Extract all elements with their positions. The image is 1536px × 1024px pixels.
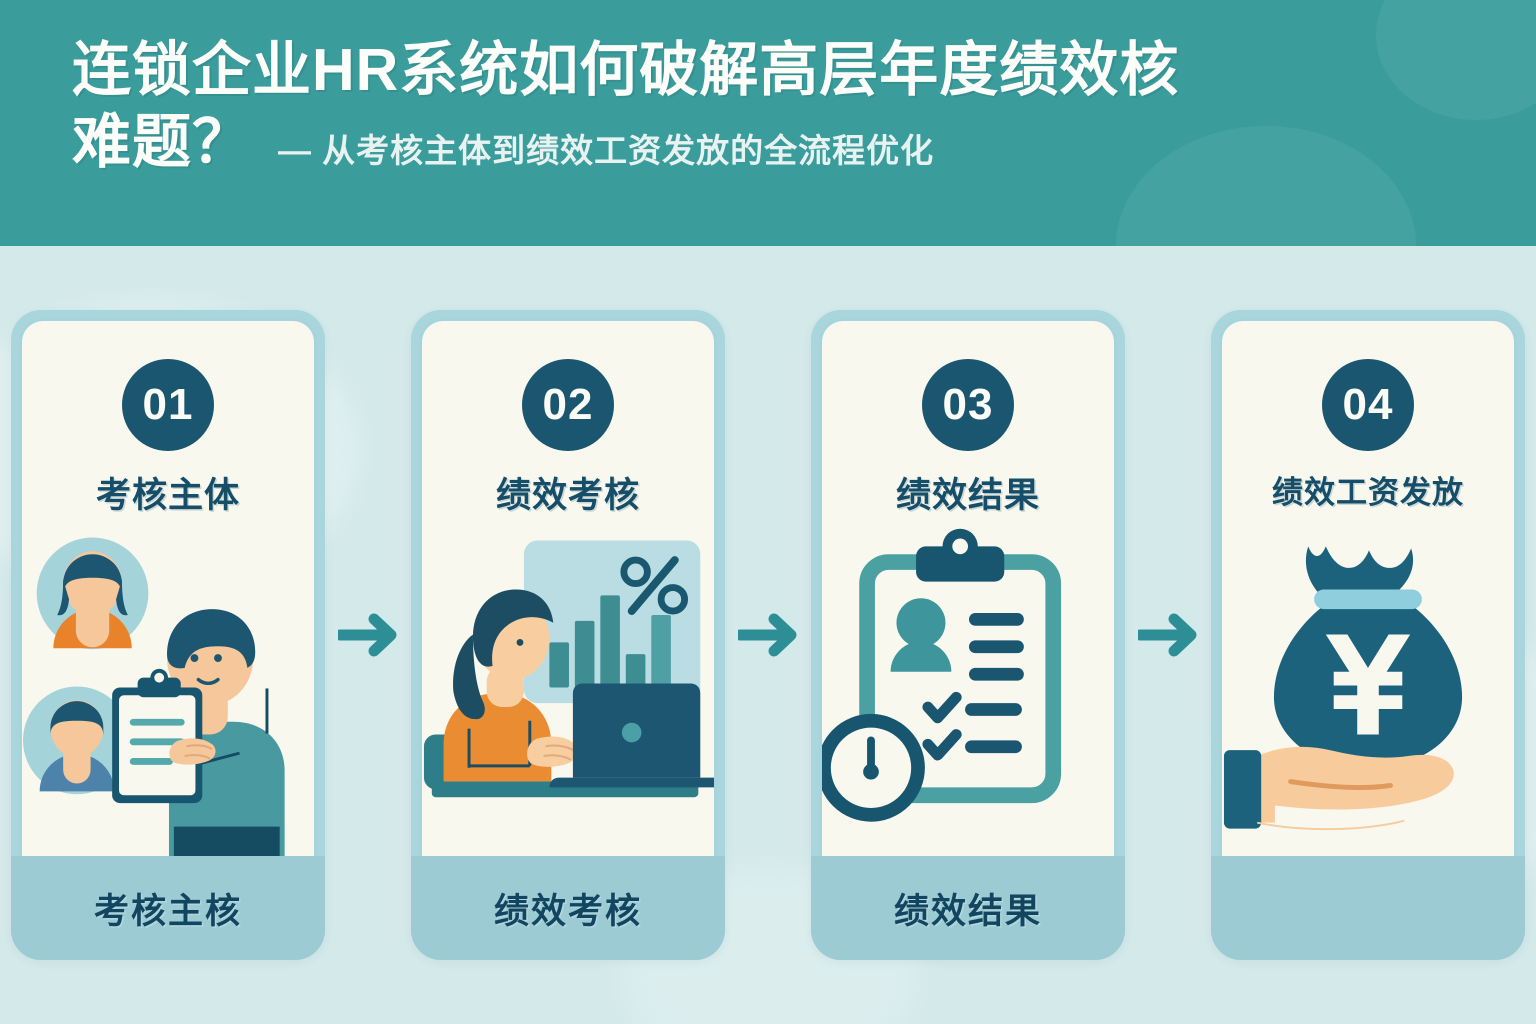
card-footer-label: 绩效结果 — [811, 856, 1125, 960]
step-number-badge: 01 — [122, 359, 214, 451]
card-footer-label — [1211, 856, 1525, 960]
step-footer-text: 绩效考核 — [494, 883, 642, 934]
flow-arrow-3 — [1125, 310, 1211, 960]
card-footer-label: 考核主核 — [11, 856, 325, 960]
page-title: 连锁企业HR系统如何破解高层年度绩效核 — [72, 36, 1472, 106]
arrow-right-icon — [338, 612, 398, 658]
card-face: 02 绩效考核 — [419, 318, 717, 856]
step-footer-text: 考核主核 — [94, 883, 242, 934]
arrow-right-icon — [1138, 612, 1198, 658]
card-face: 04 绩效工资发放 — [1219, 318, 1517, 856]
step-number-badge: 02 — [522, 359, 614, 451]
flow-step-card-02[interactable]: 02 绩效考核 — [411, 310, 725, 960]
card-face: 01 考核主体 — [19, 318, 317, 856]
step-title: 绩效工资发放 — [1222, 467, 1514, 512]
flow-step-card-03[interactable]: 03 绩效结果 — [811, 310, 1125, 960]
step-title: 考核主体 — [22, 467, 314, 518]
step-title: 绩效考核 — [422, 467, 714, 518]
flow-step-card-01[interactable]: 01 考核主体 — [11, 310, 325, 960]
page-title-line2: 难题？ — [72, 108, 252, 178]
step-number-badge: 04 — [1322, 359, 1414, 451]
hand-holding-money-bag-illustration — [1222, 526, 1514, 856]
page-subtitle: — 从考核主体到绩效工资发放的全流程优化 — [278, 124, 934, 172]
clipboard-checklist-with-clock-illustration — [822, 526, 1114, 856]
card-face: 03 绩效结果 — [819, 318, 1117, 856]
arrow-right-icon — [738, 612, 798, 658]
flow-arrow-1 — [325, 310, 411, 960]
card-footer-label: 绩效考核 — [411, 856, 725, 960]
step-number-badge: 03 — [922, 359, 1014, 451]
page-header: 连锁企业HR系统如何破解高层年度绩效核 难题？ — 从考核主体到绩效工资发放的全… — [0, 0, 1536, 246]
step-footer-text: 绩效结果 — [894, 883, 1042, 934]
people-with-clipboard-illustration — [22, 526, 314, 856]
analyst-at-laptop-with-bar-chart-illustration — [422, 526, 714, 856]
process-flow: 01 考核主体 — [0, 246, 1536, 1024]
step-title: 绩效结果 — [822, 467, 1114, 518]
flow-step-card-04[interactable]: 04 绩效工资发放 — [1211, 310, 1525, 960]
flow-arrow-2 — [725, 310, 811, 960]
